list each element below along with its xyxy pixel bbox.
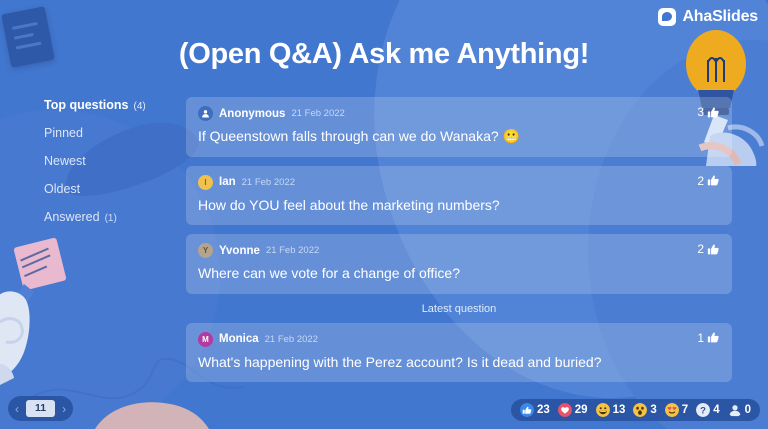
question-text: How do YOU feel about the marketing numb… — [198, 197, 720, 215]
sidebar-item-count: (4) — [134, 101, 146, 112]
thumbs-up-icon — [707, 174, 720, 187]
question-text: If Queenstown falls through can we do Wa… — [198, 128, 720, 146]
sidebar-item-count: (1) — [105, 213, 117, 224]
person-icon — [728, 403, 742, 417]
thumbs-up-icon — [707, 331, 720, 344]
question-meta: I Ian 21 Feb 2022 — [198, 175, 720, 190]
reaction-count: 29 — [575, 404, 588, 416]
sidebar-item-label: Top questions — [44, 98, 129, 112]
question-date: 21 Feb 2022 — [265, 334, 318, 345]
question-meta: Anonymous 21 Feb 2022 — [198, 106, 720, 121]
reaction-count: 7 — [682, 404, 688, 416]
avatar: Y — [198, 243, 213, 258]
like-counter[interactable]: 1 — [697, 331, 720, 345]
reaction-bar: 23 29 13 — [511, 399, 760, 421]
page-title: (Open Q&A) Ask me Anything! — [0, 38, 768, 71]
reaction-shocked-face[interactable]: 3 — [633, 403, 656, 417]
slide-number: 11 — [26, 400, 55, 417]
svg-text:?: ? — [700, 406, 706, 417]
question-date: 21 Feb 2022 — [266, 245, 319, 256]
question-text: Where can we vote for a change of office… — [198, 265, 720, 283]
avatar-initial: Y — [203, 246, 208, 255]
sidebar-item-label: Newest — [44, 154, 86, 168]
shocked-face-icon — [633, 403, 647, 417]
like-count: 2 — [697, 174, 704, 188]
sidebar-item-label: Pinned — [44, 126, 83, 140]
like-counter[interactable]: 3 — [697, 105, 720, 119]
sidebar-item-label: Answered — [44, 210, 100, 224]
reaction-heart-eyes[interactable]: 7 — [665, 403, 688, 417]
sidebar-item-label: Oldest — [44, 182, 80, 196]
sidebar-item-pinned[interactable]: Pinned — [44, 126, 172, 154]
reaction-grinning-face[interactable]: 13 — [596, 403, 626, 417]
reaction-count: 13 — [613, 404, 626, 416]
latest-question-label: Latest question — [186, 303, 732, 315]
sidebar-item-top-questions[interactable]: Top questions (4) — [44, 98, 172, 126]
question-text: What's happening with the Perez account?… — [198, 354, 720, 372]
avatar-initial: I — [204, 178, 206, 187]
reaction-heart[interactable]: 29 — [558, 403, 588, 417]
heart-eyes-icon — [665, 403, 679, 417]
ahaslides-logo: AhaSlides — [658, 8, 758, 26]
hand-bottom-illustration — [92, 389, 212, 429]
hand-with-note-illustration — [0, 236, 126, 396]
prev-slide-button[interactable]: ‹ — [15, 403, 19, 415]
question-card[interactable]: I Ian 21 Feb 2022 How do YOU feel about … — [186, 166, 732, 226]
question-author: Anonymous — [219, 108, 285, 120]
question-card[interactable]: Anonymous 21 Feb 2022 If Queenstown fall… — [186, 97, 732, 157]
question-mark-icon: ? — [696, 403, 710, 417]
like-counter[interactable]: 2 — [697, 174, 720, 188]
question-author: Ian — [219, 176, 236, 188]
person-icon — [201, 109, 210, 118]
reaction-question[interactable]: ? 4 — [696, 403, 719, 417]
thumbs-up-icon — [707, 243, 720, 256]
question-meta: M Monica 21 Feb 2022 — [198, 332, 720, 347]
reaction-count: 4 — [713, 404, 719, 416]
like-count: 3 — [697, 105, 704, 119]
thumbs-up-icon — [707, 106, 720, 119]
question-date: 21 Feb 2022 — [242, 177, 295, 188]
like-count: 2 — [697, 242, 704, 256]
avatar-initial: M — [202, 335, 209, 344]
avatar: I — [198, 175, 213, 190]
logo-text: AhaSlides — [682, 8, 758, 26]
avatar: M — [198, 332, 213, 347]
question-author: Monica — [219, 333, 259, 345]
sidebar-item-newest[interactable]: Newest — [44, 154, 172, 182]
question-meta: Y Yvonne 21 Feb 2022 — [198, 243, 720, 258]
reaction-thumbs-up[interactable]: 23 — [520, 403, 550, 417]
next-slide-button[interactable]: › — [62, 403, 66, 415]
heart-icon — [558, 403, 572, 417]
speech-bubble-icon — [658, 8, 676, 26]
question-author: Yvonne — [219, 245, 260, 257]
reaction-count: 23 — [537, 404, 550, 416]
avatar — [198, 106, 213, 121]
like-counter[interactable]: 2 — [697, 242, 720, 256]
sidebar-item-oldest[interactable]: Oldest — [44, 182, 172, 210]
reaction-count: 0 — [745, 404, 751, 416]
thumbs-up-icon — [520, 403, 534, 417]
slide-pagination: ‹ 11 › — [8, 396, 73, 421]
reaction-participants[interactable]: 0 — [728, 403, 751, 417]
qna-slide: AhaSlides (Open Q&A) Ask me Anything! To… — [0, 0, 768, 429]
sidebar-filters: Top questions (4) Pinned Newest Oldest A… — [44, 98, 172, 238]
question-date: 21 Feb 2022 — [291, 108, 344, 119]
question-list: Anonymous 21 Feb 2022 If Queenstown fall… — [186, 97, 732, 391]
sidebar-item-answered[interactable]: Answered (1) — [44, 210, 172, 238]
reaction-count: 3 — [650, 404, 656, 416]
like-count: 1 — [697, 331, 704, 345]
grinning-face-icon — [596, 403, 610, 417]
question-card[interactable]: M Monica 21 Feb 2022 What's happening wi… — [186, 323, 732, 383]
question-card[interactable]: Y Yvonne 21 Feb 2022 Where can we vote f… — [186, 234, 732, 294]
